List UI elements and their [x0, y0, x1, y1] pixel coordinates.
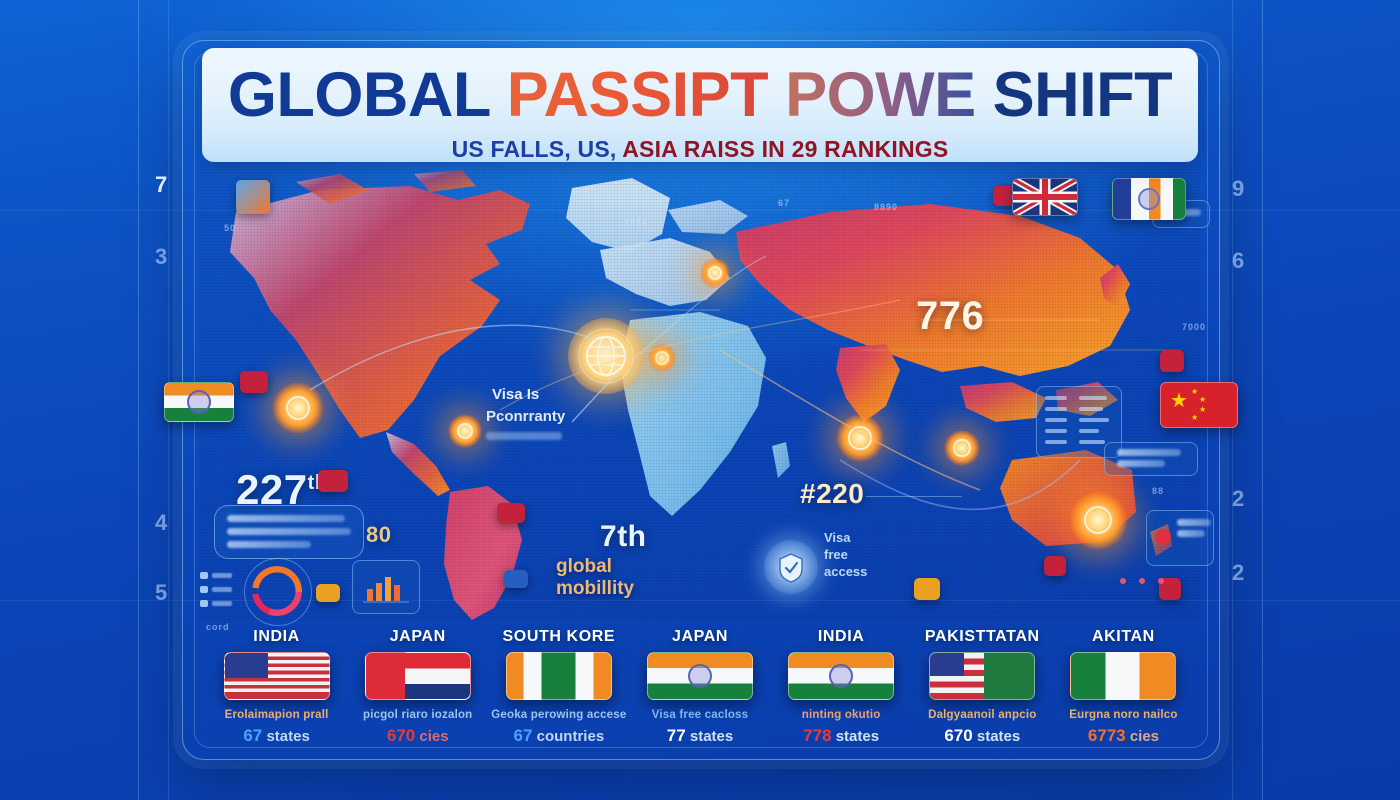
country-card[interactable]: PAKISTTATAN Dalgyaanoil anpcio 670 state…: [912, 628, 1053, 754]
margin-number-right: 2: [1232, 486, 1244, 512]
country-card[interactable]: JAPAN picgol riaro iozalon 670 cies: [347, 628, 488, 754]
map-tile-marker[interactable]: [1044, 556, 1066, 576]
legend-panel: [1104, 442, 1198, 476]
country-card-value: 77 states: [667, 726, 733, 746]
left-info-box: [214, 505, 364, 559]
tiny-label: 2014: [624, 218, 648, 228]
page-subtitle: US FALLS, US, ASIA RAISS IN 29 RANKINGS: [202, 136, 1198, 162]
margin-number-left: 3: [155, 244, 167, 270]
mini-bar-panel: [352, 560, 420, 614]
country-card-desc: Visa free cacloss: [652, 709, 749, 721]
country-card-flag: [929, 652, 1035, 700]
flag-chip-india[interactable]: [164, 382, 234, 422]
map-hotspot[interactable]: [648, 344, 676, 372]
country-card-name: AKITAN: [1092, 628, 1155, 646]
rank-center-number: 7th: [600, 520, 647, 554]
title-word-4: SHIFT: [993, 60, 1173, 130]
country-card-value: 778 states: [803, 726, 879, 746]
legend-row: [200, 586, 232, 593]
infographic-canvas: 227th 80 50 7th global mobill: [0, 0, 1400, 800]
globe-label-1: Visa Is: [492, 386, 539, 403]
country-card-desc: Geoka perowing accese: [491, 709, 626, 721]
margin-number-left: 5: [155, 580, 167, 606]
rank-center-label-1: global: [556, 556, 612, 578]
tiny-label: 8890: [874, 202, 898, 212]
uk-flag-glyph: [1013, 179, 1077, 215]
margin-number-right: 9: [1232, 176, 1244, 202]
country-card-flag: [788, 652, 894, 700]
country-card-name: INDIA: [818, 628, 865, 646]
map-hotspot[interactable]: [448, 414, 482, 448]
margin-number-left: 4: [155, 510, 167, 536]
country-card-name: JAPAN: [672, 628, 728, 646]
country-card-desc: Dalgyaanoil anpcio: [928, 709, 1036, 721]
map-hotspot[interactable]: [1068, 490, 1128, 550]
title-banner: GLOBAL PASSIPT POWE SHIFT US FALLS, US, …: [202, 48, 1198, 162]
country-card-desc: picgol riaro iozalon: [363, 709, 472, 721]
marker-value-80: 80: [366, 522, 391, 548]
shield-icon[interactable]: [764, 540, 818, 594]
country-card-value: 67 states: [243, 726, 309, 746]
flag-chip-uk[interactable]: [1012, 178, 1078, 216]
country-card-name: JAPAN: [390, 628, 446, 646]
country-card-value: 670 states: [944, 726, 1020, 746]
country-card[interactable]: SOUTH KORE Geoka perowing accese 67 coun…: [488, 628, 629, 754]
country-card-desc: Eurgna noro nailco: [1069, 709, 1177, 721]
globe-icon[interactable]: [568, 318, 644, 394]
dot-row: [1120, 578, 1164, 584]
map-tile-marker[interactable]: [1160, 350, 1184, 372]
rank-right-rule: [866, 496, 962, 497]
map-hotspot[interactable]: [944, 430, 980, 466]
country-card-flag: [647, 652, 753, 700]
country-card-row: INDIA Erolaimapion prall 67 states JAPAN…: [200, 628, 1200, 754]
asia-value: 776: [916, 294, 984, 339]
guide-line: [138, 0, 139, 800]
country-card-name: SOUTH KORE: [503, 628, 616, 646]
margin-number-right: 6: [1232, 248, 1244, 274]
flag-chip-france-india[interactable]: [1112, 178, 1186, 220]
country-card[interactable]: INDIA ninting okutio 778 states: [771, 628, 912, 754]
legend-swatch: [200, 586, 208, 593]
country-card[interactable]: AKITAN Eurgna noro nailco 6773 cies: [1053, 628, 1194, 754]
mini-bar-chart: [353, 561, 419, 613]
map-tile-marker[interactable]: [504, 570, 528, 588]
country-card-name: INDIA: [253, 628, 300, 646]
country-card-value: 6773 cies: [1088, 726, 1159, 746]
guide-line: [1262, 0, 1263, 800]
status-panel: [1146, 510, 1214, 566]
page-title: GLOBAL PASSIPT POWE SHIFT: [202, 64, 1198, 127]
map-tile-marker[interactable]: [914, 578, 940, 600]
country-card-flag: [506, 652, 612, 700]
globe-label-3: [486, 432, 562, 440]
marker-value-50: 50: [224, 223, 236, 233]
rank-right-label-2: free: [824, 547, 848, 562]
title-word-3: POWE: [785, 60, 976, 130]
tiny-label: 67: [778, 198, 790, 208]
globe-glyph: [568, 318, 644, 394]
legend-swatch: [200, 600, 208, 607]
rank-center-label-2: mobillity: [556, 578, 634, 600]
map-hotspot[interactable]: [272, 382, 324, 434]
country-card-value: 67 countries: [514, 726, 605, 746]
shield-glyph: [764, 540, 818, 594]
rank-right-number: #220: [800, 478, 864, 510]
country-card-flag: [1070, 652, 1176, 700]
map-hotspot[interactable]: [836, 414, 884, 462]
donut-ring: [244, 558, 312, 626]
country-card-flag: [365, 652, 471, 700]
map-hotspot[interactable]: [700, 258, 730, 288]
tiny-label: 88: [1152, 486, 1164, 496]
legend-swatch: [200, 572, 208, 579]
rank-right-label-3: access: [824, 564, 867, 579]
country-card-desc: ninting okutio: [802, 709, 881, 721]
legend-row: [200, 572, 232, 579]
country-card[interactable]: INDIA Erolaimapion prall 67 states: [206, 628, 347, 754]
map-tile-marker[interactable]: [316, 584, 340, 602]
tiny-label: 7000: [1182, 322, 1206, 332]
map-tile-icon[interactable]: [236, 180, 270, 214]
margin-number-right: 2: [1232, 560, 1244, 586]
country-card-flag: [224, 652, 330, 700]
map-tile-marker[interactable]: [318, 470, 348, 492]
globe-label-2: Pconrranty: [486, 408, 565, 425]
margin-number-left: 7: [155, 172, 167, 198]
map-tile-marker[interactable]: [497, 503, 525, 523]
subtitle-part-1: US FALLS, US,: [452, 136, 623, 162]
country-card-desc: Erolaimapion prall: [225, 709, 329, 721]
status-dot: [1155, 529, 1171, 545]
country-card[interactable]: JAPAN Visa free cacloss 77 states: [629, 628, 770, 754]
country-card-value: 670 cies: [387, 726, 449, 746]
country-card-name: PAKISTTATAN: [925, 628, 1040, 646]
title-word-2: PASSIPT: [507, 60, 768, 130]
subtitle-part-2: ASIA RAISS IN 29 RANKINGS: [622, 136, 948, 162]
map-tile-marker[interactable]: [240, 371, 268, 393]
flag-chip-china[interactable]: ★ ★ ★ ★ ★: [1160, 382, 1238, 428]
legend-row: [200, 600, 232, 607]
rank-right-label-1: Visa: [824, 530, 851, 545]
title-word-1: GLOBAL: [228, 60, 490, 130]
